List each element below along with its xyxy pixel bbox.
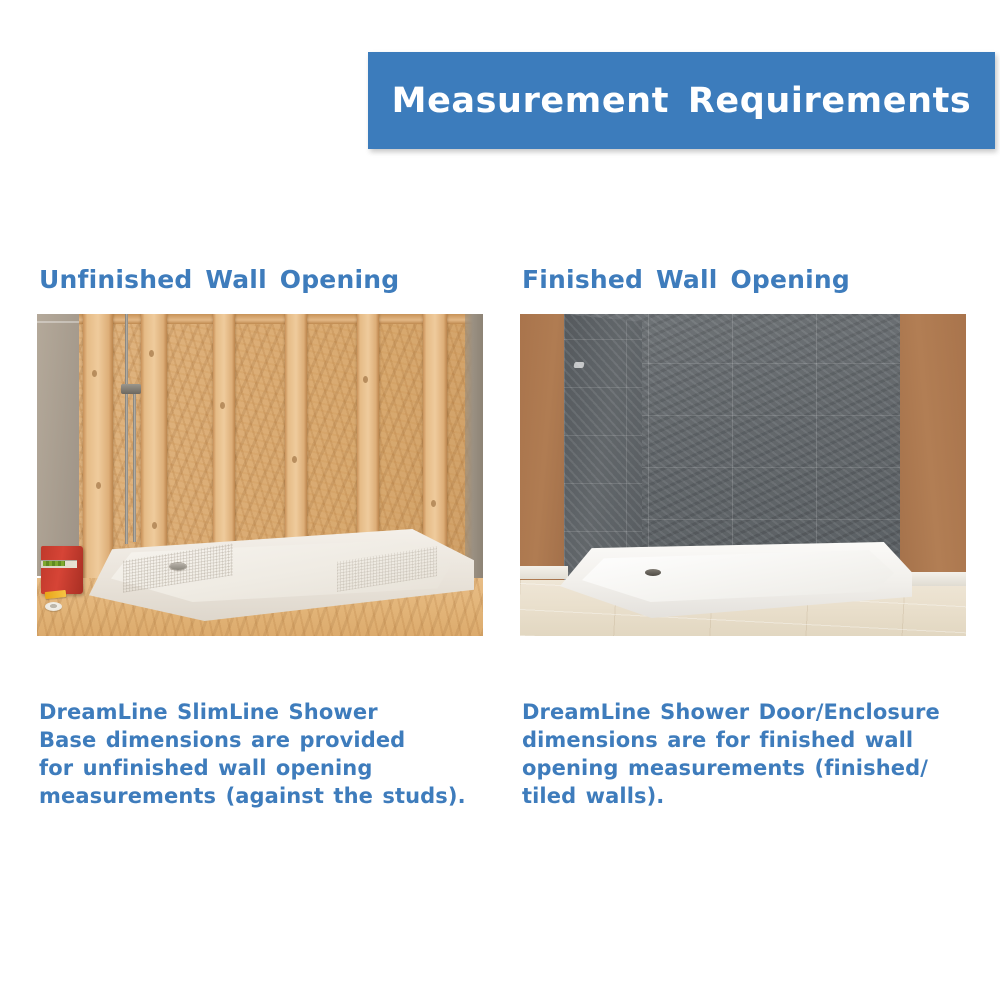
painted-wall-left — [520, 314, 564, 580]
shower-supply-pipe — [133, 392, 136, 542]
panel-unfinished-wall-opening: Unfinished Wall Opening — [37, 265, 487, 636]
shower-supply-pipe — [125, 314, 128, 544]
heading-unfinished-wall-opening: Unfinished Wall Opening — [39, 265, 487, 294]
wall-stud — [83, 314, 113, 582]
photo-finished-wall-opening — [520, 314, 966, 636]
tape-roll-icon — [45, 602, 62, 611]
red-toolbox — [41, 546, 83, 594]
adjacent-drywall — [37, 314, 79, 576]
right-wall-edge — [465, 314, 483, 582]
header-banner: Measurement Requirements — [368, 52, 995, 149]
toolbox-tools — [43, 561, 65, 566]
page-title: Measurement Requirements — [392, 81, 972, 121]
caption-finished-wall-opening: DreamLine Shower Door/Enclosure dimensio… — [522, 698, 972, 810]
pipe-bracket — [121, 384, 141, 394]
wall-stud — [141, 314, 167, 582]
shower-drain-icon — [645, 569, 661, 576]
panel-finished-wall-opening: Finished Wall Opening — [520, 265, 970, 636]
heading-finished-wall-opening: Finished Wall Opening — [522, 265, 970, 294]
baseboard-left — [520, 566, 568, 579]
tiled-side-wall — [564, 314, 642, 580]
tile-highlight — [573, 362, 584, 368]
caption-unfinished-wall-opening: DreamLine SlimLine Shower Base dimension… — [39, 698, 469, 810]
painted-wall-right — [900, 314, 966, 586]
shower-drain-icon — [170, 563, 186, 570]
photo-unfinished-wall-opening — [37, 314, 483, 636]
